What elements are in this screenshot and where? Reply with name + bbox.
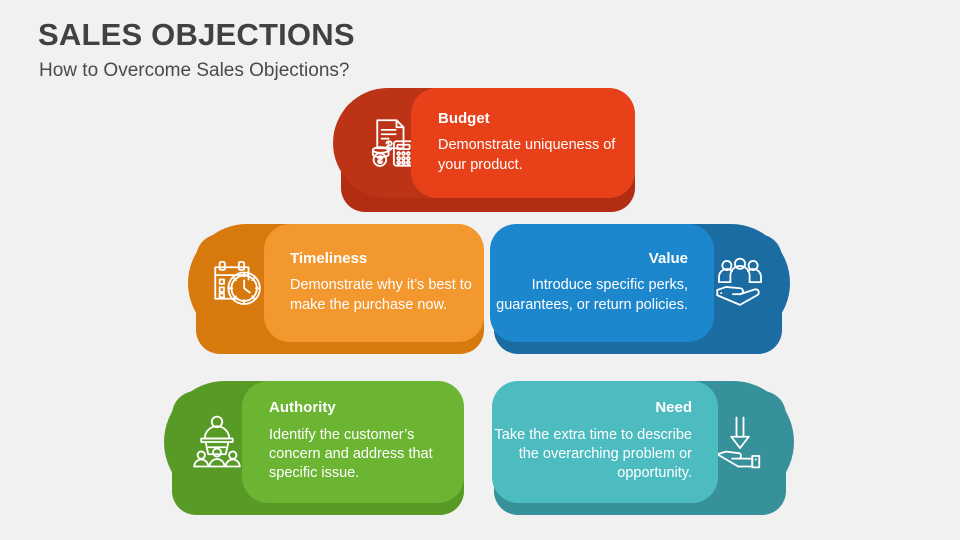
card-budget-title: Budget (438, 111, 635, 128)
card-need-description: Take the extra time to describe the over… (492, 426, 692, 484)
card-need[interactable]: Need Take the extra time to describe the… (494, 381, 794, 515)
hand-receiving-arrow-icon (712, 414, 768, 470)
calendar-clock-icon (210, 255, 266, 311)
card-timeliness-description: Demonstrate why it’s best to make the pu… (290, 276, 484, 315)
slide-canvas: SALES OBJECTIONS How to Overcome Sales O… (0, 0, 960, 540)
card-value[interactable]: Value Introduce specific perks, guarante… (494, 224, 790, 354)
card-value-description: Introduce specific perks, guarantees, or… (490, 276, 688, 315)
page-subtitle: How to Overcome Sales Objections? (39, 60, 349, 82)
card-budget-description: Demonstrate uniqueness of your product. (438, 136, 635, 175)
card-need-title: Need (655, 400, 692, 417)
card-need-text-panel: Need Take the extra time to describe the… (492, 381, 718, 503)
card-authority-text-panel: Authority Identify the customer’s concer… (242, 381, 464, 503)
card-authority-title: Authority (269, 400, 464, 417)
card-budget[interactable]: Budget Demonstrate uniqueness of your pr… (333, 88, 635, 212)
card-value-title: Value (649, 251, 688, 268)
speaker-podium-audience-icon (189, 414, 245, 470)
page-title: SALES OBJECTIONS (38, 17, 355, 53)
card-timeliness-title: Timeliness (290, 251, 484, 268)
card-budget-text-panel: Budget Demonstrate uniqueness of your pr… (411, 88, 635, 198)
hand-holding-people-icon (712, 255, 768, 311)
card-authority-description: Identify the customer’s concern and addr… (269, 426, 464, 484)
card-authority[interactable]: Authority Identify the customer’s concer… (164, 381, 464, 515)
card-timeliness[interactable]: Timeliness Demonstrate why it’s best to … (188, 224, 484, 354)
card-timeliness-text-panel: Timeliness Demonstrate why it’s best to … (264, 224, 484, 342)
card-value-text-panel: Value Introduce specific perks, guarante… (490, 224, 714, 342)
